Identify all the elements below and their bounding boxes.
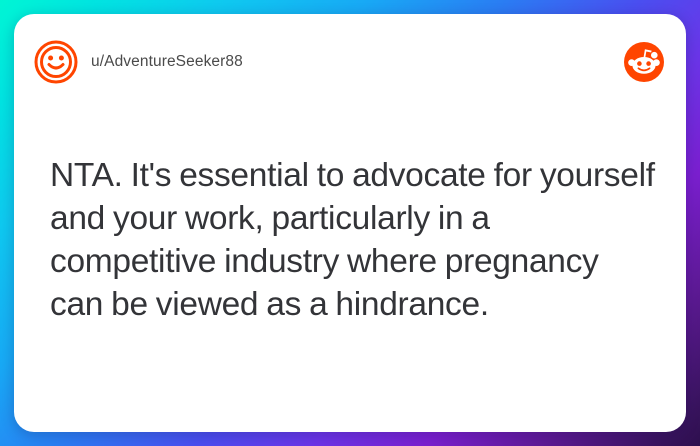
comment-text: NTA. It's essential to advocate for your… (50, 154, 656, 326)
smiley-face-avatar-icon (34, 40, 78, 84)
reddit-comment-card: u/AdventureSeeker88 NTA. It's esse (14, 14, 686, 432)
screenshot-stage: u/AdventureSeeker88 NTA. It's esse (0, 0, 700, 446)
reddit-snoo-logo-icon[interactable] (624, 42, 664, 82)
user-block[interactable]: u/AdventureSeeker88 (34, 40, 624, 84)
username-label: u/AdventureSeeker88 (91, 53, 243, 71)
comment-header: u/AdventureSeeker88 (14, 14, 686, 110)
